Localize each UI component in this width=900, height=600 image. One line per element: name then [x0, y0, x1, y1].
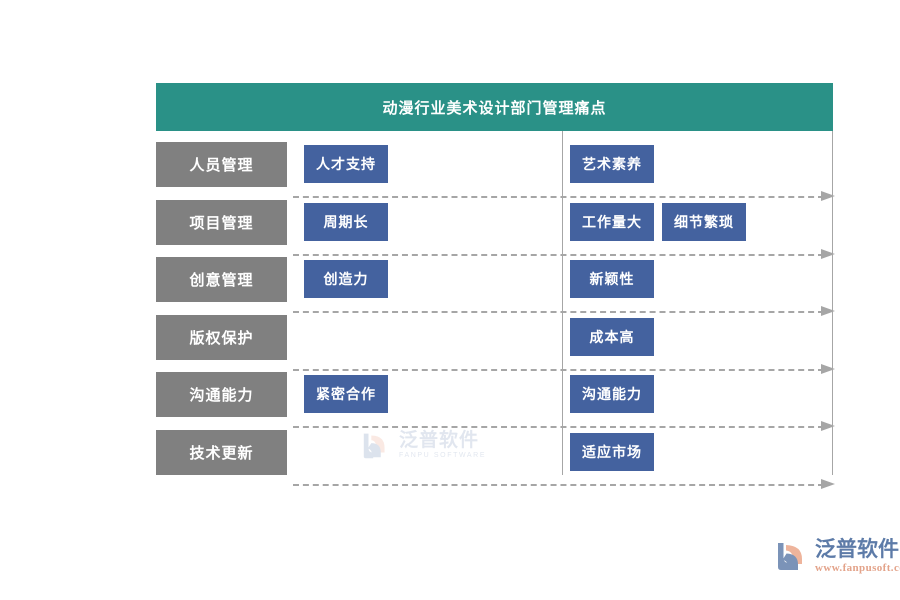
middle-tag-chip[interactable]: 创造力	[304, 260, 388, 298]
diagram-row: 人员管理人才支持艺术素养	[0, 142, 900, 200]
brand-words: 泛普软件 www.fanpusoft.com	[815, 538, 900, 575]
connector-dashed-line	[293, 254, 824, 256]
right-tag-label: 适应市场	[582, 442, 642, 462]
right-tag-chip[interactable]: 细节繁琐	[662, 203, 746, 241]
connector-dashed-line	[293, 196, 824, 198]
middle-tag-chip[interactable]: 紧密合作	[304, 375, 388, 413]
diagram-row: 沟通能力紧密合作沟通能力	[0, 372, 900, 430]
right-tag-chip[interactable]: 新颖性	[570, 260, 654, 298]
connector-dashed-line	[293, 311, 824, 313]
right-tag-chip[interactable]: 工作量大	[570, 203, 654, 241]
category-chip-label: 人员管理	[189, 154, 253, 175]
category-chip[interactable]: 项目管理	[156, 200, 287, 245]
brand-url: www.fanpusoft.com	[815, 562, 900, 575]
diagram-row: 版权保护成本高	[0, 315, 900, 373]
brand-name: 泛普软件	[815, 538, 900, 562]
right-tag-label: 细节繁琐	[674, 212, 734, 232]
right-tag-label: 沟通能力	[582, 384, 642, 404]
category-chip[interactable]: 沟通能力	[156, 372, 287, 417]
diagram-row: 项目管理周期长工作量大细节繁琐	[0, 200, 900, 258]
category-chip-label: 沟通能力	[189, 384, 253, 405]
right-tag-chip[interactable]: 沟通能力	[570, 375, 654, 413]
diagram-row: 创意管理创造力新颖性	[0, 257, 900, 315]
middle-tag-chip[interactable]: 人才支持	[304, 145, 388, 183]
category-chip[interactable]: 创意管理	[156, 257, 287, 302]
right-tag-chip[interactable]: 适应市场	[570, 433, 654, 471]
category-chip-label: 技术更新	[189, 442, 253, 463]
middle-tag-chip[interactable]: 周期长	[304, 203, 388, 241]
middle-tag-label: 创造力	[324, 269, 369, 289]
category-chip-label: 版权保护	[189, 327, 253, 348]
right-tag-chip[interactable]: 成本高	[570, 318, 654, 356]
right-tag-label: 新颖性	[590, 269, 635, 289]
category-chip-label: 创意管理	[189, 269, 253, 290]
brand-logo: 泛普软件 www.fanpusoft.com	[775, 538, 895, 586]
right-tag-label: 艺术素养	[582, 154, 642, 174]
page-title: 动漫行业美术设计部门管理痛点	[382, 97, 606, 118]
arrow-right-icon	[821, 479, 835, 489]
right-tag-label: 工作量大	[582, 212, 642, 232]
fanpu-logo-mark-icon	[775, 538, 811, 574]
diagram-canvas: 动漫行业美术设计部门管理痛点 人员管理人才支持艺术素养项目管理周期长工作量大细节…	[0, 0, 900, 600]
middle-tag-label: 周期长	[324, 212, 369, 232]
category-chip-label: 项目管理	[189, 212, 253, 233]
diagram-row: 技术更新适应市场	[0, 430, 900, 488]
connector-dashed-line	[293, 484, 824, 486]
connector-dashed-line	[293, 369, 824, 371]
middle-tag-label: 紧密合作	[316, 384, 376, 404]
right-tag-label: 成本高	[590, 327, 635, 347]
category-chip[interactable]: 人员管理	[156, 142, 287, 187]
diagram-title-bar: 动漫行业美术设计部门管理痛点	[156, 83, 833, 131]
connector-dashed-line	[293, 426, 824, 428]
right-tag-chip[interactable]: 艺术素养	[570, 145, 654, 183]
row-connector-arrow	[293, 479, 841, 490]
middle-tag-label: 人才支持	[316, 154, 376, 174]
category-chip[interactable]: 技术更新	[156, 430, 287, 475]
category-chip[interactable]: 版权保护	[156, 315, 287, 360]
